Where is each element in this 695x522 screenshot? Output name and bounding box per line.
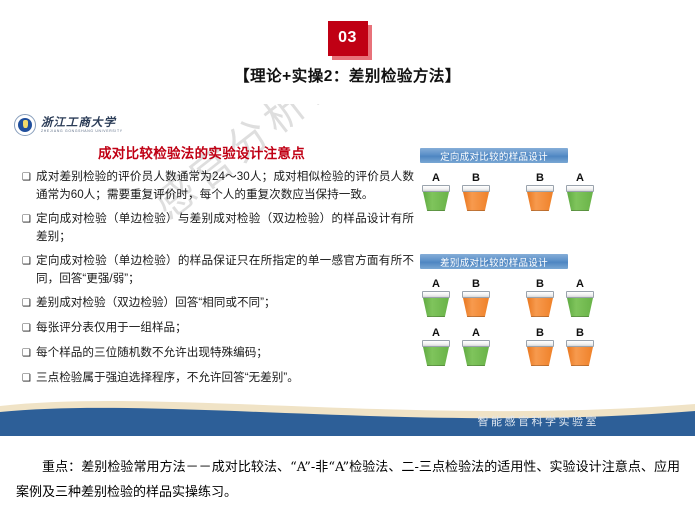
cup-body-icon: [527, 298, 553, 317]
bullet-square-icon: ❑: [22, 252, 36, 270]
page-title: 【理论+实操2：差别检验方法】: [0, 64, 695, 86]
bullet-item-text: 三点检验属于强迫选择程序，不允许回答“无差别”。: [36, 369, 414, 387]
sample-cup-label: A: [472, 327, 480, 339]
bullet-item-text: 每张评分表仅用于一组样品；: [36, 319, 414, 337]
key-points-paragraph: 重点：差别检验常用方法－－成对比较法、“A”-非“A”检验法、二-三点检验法的适…: [16, 455, 680, 505]
bullet-item: ❑定向成对检验（单边检验）的样品保证只在所指定的单一感官方面有所不同，回答“更强…: [22, 252, 414, 287]
sample-cup: A: [564, 278, 596, 317]
cup-rim-icon: [526, 291, 554, 298]
cup-body-icon: [463, 192, 489, 211]
sample-cup: B: [460, 172, 492, 211]
cup-rim-icon: [526, 185, 554, 192]
sample-cup: B: [524, 172, 556, 211]
university-emblem-icon: [14, 114, 36, 136]
cup-icon: [462, 291, 490, 317]
cup-rim-icon: [422, 185, 450, 192]
bullet-item: ❑差别成对检验（双边检验）回答“相同或不同”；: [22, 294, 414, 312]
university-logo: 浙江工商大学 ZHEJIANG GONGSHANG UNIVERSITY: [14, 114, 123, 136]
bullet-square-icon: ❑: [22, 210, 36, 228]
sample-cup-label: B: [472, 172, 480, 184]
sample-cup-label: A: [576, 278, 584, 290]
cup-body-icon: [423, 192, 449, 211]
bullet-item-text: 每个样品的三位随机数不允许出现特殊编码；: [36, 344, 414, 362]
cup-icon: [526, 291, 554, 317]
cup-icon: [566, 340, 594, 366]
cup-icon: [566, 291, 594, 317]
sample-cup: A: [420, 278, 452, 317]
cup-icon: [422, 185, 450, 211]
badge-shadow: 03: [328, 21, 368, 56]
cup-row: ABBA: [420, 278, 604, 317]
sample-cup: B: [524, 278, 556, 317]
section-heading: 成对比较检验法的实验设计注意点: [98, 142, 305, 162]
bullet-item-text: 定向成对检验（单边检验）与差别成对检验（双边检验）的样品设计有所差别；: [36, 210, 414, 245]
key-points-text: 重点：差别检验常用方法－－成对比较法、“A”-非“A”检验法、二-三点检验法的适…: [16, 460, 680, 500]
cup-body-icon: [567, 347, 593, 366]
bullet-square-icon: ❑: [22, 319, 36, 337]
bullet-item: ❑三点检验属于强迫选择程序，不允许回答“无差别”。: [22, 369, 414, 387]
sample-cup: A: [420, 327, 452, 366]
bullet-item: ❑每个样品的三位随机数不允许出现特殊编码；: [22, 344, 414, 362]
cup-rim-icon: [422, 291, 450, 298]
sample-cup-label: A: [432, 172, 440, 184]
cup-rim-icon: [462, 291, 490, 298]
cup-pair-left: AA: [420, 327, 500, 366]
cup-icon: [422, 340, 450, 366]
bullet-item-text: 差别成对检验（双边检验）回答“相同或不同”；: [36, 294, 414, 312]
cup-rim-icon: [462, 185, 490, 192]
cup-rim-icon: [462, 340, 490, 347]
cup-icon: [526, 185, 554, 211]
diagram-panel-difference: 差别成对比较的样品设计ABBAAABB: [420, 254, 604, 376]
cup-rim-icon: [566, 291, 594, 298]
sample-cup-label: B: [536, 172, 544, 184]
cup-icon: [566, 185, 594, 211]
sample-cup: A: [420, 172, 452, 211]
bullet-item: ❑定向成对检验（单边检验）与差别成对检验（双边检验）的样品设计有所差别；: [22, 210, 414, 245]
cup-rim-icon: [566, 185, 594, 192]
cup-body-icon: [463, 347, 489, 366]
bullet-item-text: 定向成对检验（单边检验）的样品保证只在所指定的单一感官方面有所不同，回答“更强/…: [36, 252, 414, 287]
bullet-item-text: 成对差别检验的评价员人数通常为24～30人；成对相似检验的评价员人数通常为60人…: [36, 168, 414, 203]
cup-pair-right: BA: [524, 278, 604, 317]
university-name-en: ZHEJIANG GONGSHANG UNIVERSITY: [41, 130, 123, 133]
sample-cup-label: B: [536, 278, 544, 290]
sample-cup-label: A: [576, 172, 584, 184]
cup-body-icon: [567, 192, 593, 211]
bullet-square-icon: ❑: [22, 168, 36, 186]
badge-number-label: 03: [328, 21, 368, 56]
slide-number-badge: 03: [0, 20, 695, 56]
sample-cup: B: [564, 327, 596, 366]
bullet-item: ❑成对差别检验的评价员人数通常为24～30人；成对相似检验的评价员人数通常为60…: [22, 168, 414, 203]
sample-cup: A: [460, 327, 492, 366]
lab-name-label: 智能感官科学实验室: [478, 413, 600, 429]
cup-body-icon: [463, 298, 489, 317]
university-logo-text: 浙江工商大学 ZHEJIANG GONGSHANG UNIVERSITY: [41, 117, 123, 134]
cup-rim-icon: [526, 340, 554, 347]
cup-body-icon: [527, 347, 553, 366]
bullet-list: ❑成对差别检验的评价员人数通常为24～30人；成对相似检验的评价员人数通常为60…: [22, 168, 414, 394]
cup-body-icon: [423, 298, 449, 317]
sample-cup: B: [524, 327, 556, 366]
bullet-square-icon: ❑: [22, 344, 36, 362]
cup-pair-left: AB: [420, 172, 500, 211]
cup-row: ABBA: [420, 172, 604, 211]
sample-cup-label: A: [432, 278, 440, 290]
sample-cup-label: B: [576, 327, 584, 339]
cup-row: AABB: [420, 327, 604, 366]
cup-rim-icon: [566, 340, 594, 347]
cup-rim-icon: [422, 340, 450, 347]
diagram-panel-directional: 定向成对比较的样品设计ABBA: [420, 148, 604, 221]
bullet-square-icon: ❑: [22, 294, 36, 312]
bullet-item: ❑每张评分表仅用于一组样品；: [22, 319, 414, 337]
bullet-square-icon: ❑: [22, 369, 36, 387]
university-name-cn: 浙江工商大学: [41, 117, 123, 129]
diagram-panel-title: 定向成对比较的样品设计: [420, 148, 568, 163]
cup-pair-left: AB: [420, 278, 500, 317]
cup-pair-right: BA: [524, 172, 604, 211]
slide-canvas: 感官分析研究中心 浙江工商大学 ZHEJIANG GONGSHANG UNIVE…: [0, 104, 695, 440]
cup-icon: [422, 291, 450, 317]
sample-cup: A: [564, 172, 596, 211]
cup-icon: [462, 185, 490, 211]
cup-body-icon: [567, 298, 593, 317]
sample-cup-label: B: [536, 327, 544, 339]
sample-cup: B: [460, 278, 492, 317]
diagram-panel-title: 差别成对比较的样品设计: [420, 254, 568, 269]
cup-body-icon: [423, 347, 449, 366]
cup-pair-right: BB: [524, 327, 604, 366]
cup-icon: [526, 340, 554, 366]
sample-cup-label: A: [432, 327, 440, 339]
cup-body-icon: [527, 192, 553, 211]
cup-icon: [462, 340, 490, 366]
sample-cup-label: B: [472, 278, 480, 290]
